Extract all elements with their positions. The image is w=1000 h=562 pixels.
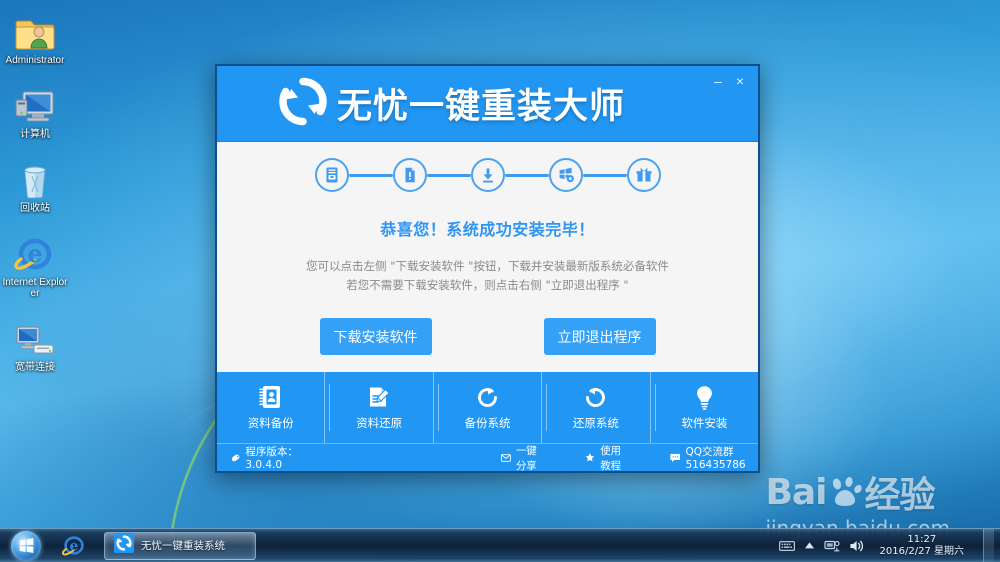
feature-label: 资料备份 bbox=[248, 415, 294, 431]
app-window: 无忧一键重装大师 – × bbox=[215, 64, 760, 473]
step-indicator bbox=[217, 142, 758, 208]
show-hidden-icons-icon[interactable] bbox=[804, 541, 815, 550]
description-line-2: 若您不需要下载安装软件，则点击右侧 "立即退出程序 " bbox=[217, 276, 758, 295]
version-text: 程序版本：3.0.4.0 bbox=[245, 444, 305, 471]
volume-icon[interactable] bbox=[849, 539, 865, 553]
tutorial-text: 使用教程 bbox=[600, 443, 628, 473]
desktop-icon-administrator[interactable]: Administrator bbox=[0, 6, 70, 66]
feature-label: 备份系统 bbox=[465, 415, 511, 431]
feature-label: 还原系统 bbox=[573, 415, 619, 431]
desktop-icon-list: Administrator 计算机 回收站 bbox=[0, 6, 70, 387]
document-alert-icon bbox=[401, 166, 419, 184]
refresh-ccw-icon bbox=[582, 384, 609, 411]
tag-icon bbox=[231, 451, 240, 465]
windows-start-orb-icon bbox=[11, 531, 41, 561]
share-button[interactable]: 一键分享 bbox=[501, 443, 543, 473]
close-button[interactable]: × bbox=[730, 72, 750, 90]
desktop-icon-label: 计算机 bbox=[0, 129, 70, 140]
contact-book-icon bbox=[257, 384, 284, 411]
sync-circle-icon bbox=[114, 533, 134, 558]
recycle-bin-icon bbox=[0, 154, 70, 200]
download-icon bbox=[479, 166, 497, 184]
taskbar-item-installer[interactable]: 无忧一键重装系统 bbox=[104, 532, 256, 560]
desktop-icon-label: Internet Explorer bbox=[0, 277, 70, 299]
step-connector bbox=[427, 174, 471, 177]
ime-keyboard-icon[interactable] bbox=[779, 540, 795, 552]
status-bar: 程序版本：3.0.4.0 一键分享 使用教程 bbox=[217, 443, 758, 471]
refresh-cw-icon bbox=[474, 384, 501, 411]
show-desktop-button[interactable] bbox=[983, 529, 994, 562]
qq-group-button[interactable]: QQ交流群516435786 bbox=[670, 444, 758, 471]
qq-text: QQ交流群516435786 bbox=[685, 444, 758, 471]
headline-text: 恭喜您！系统成功安装完毕！ bbox=[217, 216, 758, 240]
quicklaunch-ie[interactable]: e bbox=[62, 534, 86, 558]
desktop-icon-computer[interactable]: 计算机 bbox=[0, 80, 70, 140]
step-2 bbox=[393, 158, 427, 192]
step-connector bbox=[349, 174, 393, 177]
minimize-button[interactable]: – bbox=[708, 72, 728, 90]
desktop-icon-label: 宽带连接 bbox=[0, 362, 70, 373]
feature-data-backup[interactable]: 资料备份 bbox=[217, 372, 325, 443]
feature-label: 资料还原 bbox=[356, 415, 402, 431]
taskbar-item-label: 无忧一键重装系统 bbox=[141, 538, 225, 553]
desktop-icon-internet-explorer[interactable]: e Internet Explorer bbox=[0, 228, 70, 299]
tutorial-button[interactable]: 使用教程 bbox=[585, 443, 627, 473]
feature-system-backup[interactable]: 备份系统 bbox=[434, 372, 542, 443]
taskbar: e 无忧一键重装系统 bbox=[0, 528, 1000, 562]
desktop-icon-label: Administrator bbox=[0, 55, 70, 66]
desktop-icon-broadband-connection[interactable]: 宽带连接 bbox=[0, 313, 70, 373]
package-box-icon bbox=[635, 166, 653, 184]
lightbulb-icon bbox=[691, 384, 718, 411]
svg-text:e: e bbox=[70, 538, 79, 554]
step-4 bbox=[549, 158, 583, 192]
step-connector bbox=[583, 174, 627, 177]
computer-icon bbox=[0, 80, 70, 126]
window-controls: – × bbox=[708, 72, 750, 90]
clock-time: 11:27 bbox=[880, 534, 964, 546]
step-5 bbox=[627, 158, 661, 192]
sync-circle-icon bbox=[277, 75, 329, 132]
exit-program-button[interactable]: 立即退出程序 bbox=[544, 318, 656, 355]
network-icon[interactable] bbox=[824, 539, 840, 553]
feature-toolbar: 资料备份 资料还原 备份系统 bbox=[217, 372, 758, 443]
desktop-icon-label: 回收站 bbox=[0, 203, 70, 214]
star-icon bbox=[585, 450, 595, 465]
clock-date: 2016/2/27 星期六 bbox=[880, 546, 964, 558]
svg-text:e: e bbox=[27, 239, 42, 268]
step-3 bbox=[471, 158, 505, 192]
feature-system-restore[interactable]: 还原系统 bbox=[542, 372, 650, 443]
windows-flag-gear-icon bbox=[557, 166, 575, 184]
feature-data-restore[interactable]: 资料还原 bbox=[325, 372, 433, 443]
document-pencil-icon bbox=[366, 384, 393, 411]
description-line-1: 您可以点击左侧 "下载安装软件 "按钮，下载并安装最新版系统必备软件 bbox=[217, 257, 758, 276]
main-content: 恭喜您！系统成功安装完毕！ 您可以点击左侧 "下载安装软件 "按钮，下载并安装最… bbox=[217, 208, 758, 355]
action-button-row: 下载安装软件 立即退出程序 bbox=[217, 318, 758, 355]
share-text: 一键分享 bbox=[516, 443, 544, 473]
page-title: 无忧一键重装大师 bbox=[337, 78, 625, 129]
start-button[interactable] bbox=[2, 530, 50, 562]
download-install-software-button[interactable]: 下载安装软件 bbox=[320, 318, 432, 355]
version-status: 程序版本：3.0.4.0 bbox=[231, 444, 305, 471]
feature-software-install[interactable]: 软件安装 bbox=[651, 372, 758, 443]
internet-explorer-icon: e bbox=[62, 534, 86, 558]
taskbar-clock[interactable]: 11:27 2016/2/27 星期六 bbox=[874, 534, 970, 558]
internet-explorer-icon: e bbox=[0, 228, 70, 274]
server-tower-icon bbox=[323, 166, 341, 184]
chat-bubble-icon bbox=[670, 451, 681, 465]
broadband-connection-icon bbox=[0, 313, 70, 359]
envelope-icon bbox=[501, 452, 511, 464]
step-1 bbox=[315, 158, 349, 192]
step-connector bbox=[505, 174, 549, 177]
desktop-icon-recycle-bin[interactable]: 回收站 bbox=[0, 154, 70, 214]
description-block: 您可以点击左侧 "下载安装软件 "按钮，下载并安装最新版系统必备软件 若您不需要… bbox=[217, 257, 758, 295]
feature-label: 软件安装 bbox=[681, 415, 727, 431]
window-titlebar: 无忧一键重装大师 – × bbox=[217, 66, 758, 142]
system-tray: 11:27 2016/2/27 星期六 bbox=[779, 529, 1000, 562]
user-folder-icon bbox=[0, 6, 70, 52]
